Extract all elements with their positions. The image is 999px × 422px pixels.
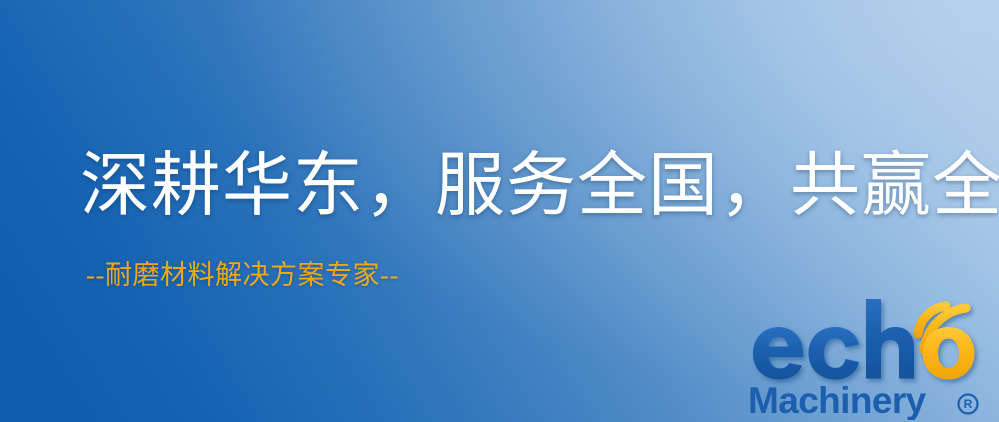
registered-mark-glyph: R xyxy=(964,397,973,411)
logo-wordmark-o xyxy=(923,327,975,380)
page-title: 深耕华东，服务全国，共赢全球 xyxy=(80,152,999,222)
echo-machinery-logo: Machinery R xyxy=(742,296,994,420)
page-subtitle: --耐磨材料解决方案专家-- xyxy=(86,262,399,289)
logo-wordmark-ech xyxy=(753,299,914,380)
hero-banner: 深耕华东，服务全国，共赢全球 --耐磨材料解决方案专家-- xyxy=(0,0,999,422)
logo-tagline: Machinery xyxy=(748,380,927,420)
